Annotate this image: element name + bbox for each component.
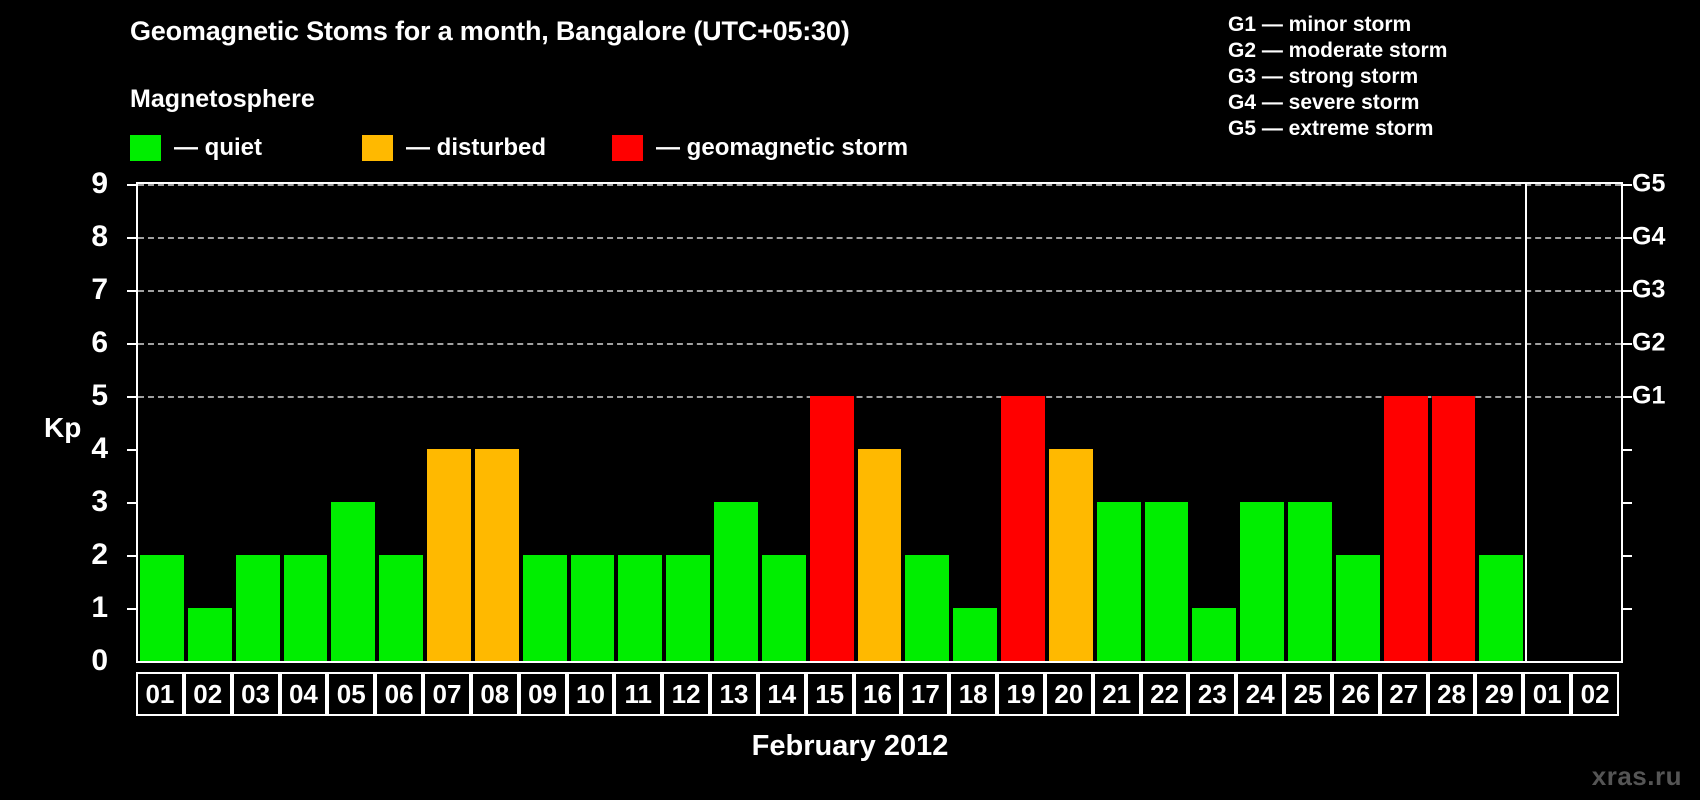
day-label-30[interactable]: 02 bbox=[1571, 672, 1619, 716]
day-label-7[interactable]: 08 bbox=[471, 672, 519, 716]
bar-day-06[interactable] bbox=[379, 555, 423, 661]
bar-day-09[interactable] bbox=[523, 555, 567, 661]
gscale-key-line-g1: G1 — minor storm bbox=[1228, 12, 1447, 38]
bar-day-23[interactable] bbox=[1192, 608, 1236, 661]
watermark: xras.ru bbox=[1592, 761, 1682, 792]
gscale-key-line-g5: G5 — extreme storm bbox=[1228, 116, 1447, 142]
day-label-13[interactable]: 14 bbox=[758, 672, 806, 716]
day-label-15[interactable]: 16 bbox=[854, 672, 902, 716]
bar-day-16[interactable] bbox=[858, 449, 902, 661]
month-divider-line bbox=[1525, 184, 1527, 661]
g-axis-label-g3: G3 bbox=[1632, 276, 1665, 305]
y-tick-label-2: 2 bbox=[91, 538, 108, 572]
bar-day-08[interactable] bbox=[475, 449, 519, 661]
bar-day-01[interactable] bbox=[140, 555, 184, 661]
y-tick-label-0: 0 bbox=[91, 644, 108, 678]
y-tick-8 bbox=[127, 237, 136, 239]
day-label-17[interactable]: 18 bbox=[949, 672, 997, 716]
y-tick-label-9: 9 bbox=[91, 167, 108, 201]
bar-day-29[interactable] bbox=[1479, 555, 1523, 661]
bar-day-03[interactable] bbox=[236, 555, 280, 661]
day-label-5[interactable]: 06 bbox=[375, 672, 423, 716]
bar-day-14[interactable] bbox=[762, 555, 806, 661]
bar-day-25[interactable] bbox=[1288, 502, 1332, 661]
bar-day-12[interactable] bbox=[666, 555, 710, 661]
g-axis-label-g4: G4 bbox=[1632, 223, 1665, 252]
day-label-24[interactable]: 25 bbox=[1284, 672, 1332, 716]
bar-day-26[interactable] bbox=[1336, 555, 1380, 661]
bar-day-15[interactable] bbox=[810, 396, 854, 661]
page-title: Geomagnetic Stoms for a month, Bangalore… bbox=[130, 16, 849, 47]
day-label-25[interactable]: 26 bbox=[1332, 672, 1380, 716]
day-label-3[interactable]: 04 bbox=[280, 672, 328, 716]
day-label-9[interactable]: 10 bbox=[567, 672, 615, 716]
legend-item-disturbed: — disturbed bbox=[362, 134, 546, 162]
bar-day-07[interactable] bbox=[427, 449, 471, 661]
bar-day-24[interactable] bbox=[1240, 502, 1284, 661]
y-tick-9 bbox=[127, 184, 136, 186]
y-tick-label-8: 8 bbox=[91, 220, 108, 254]
day-label-1[interactable]: 02 bbox=[184, 672, 232, 716]
g-axis-label-g5: G5 bbox=[1632, 170, 1665, 199]
day-label-22[interactable]: 23 bbox=[1188, 672, 1236, 716]
y-tick-7 bbox=[127, 290, 136, 292]
g-tick-8 bbox=[1623, 237, 1632, 239]
bar-day-18[interactable] bbox=[953, 608, 997, 661]
y-tick-5 bbox=[127, 396, 136, 398]
day-label-29[interactable]: 01 bbox=[1523, 672, 1571, 716]
g-tick-9 bbox=[1623, 184, 1632, 186]
y-tick-label-4: 4 bbox=[91, 432, 108, 466]
day-label-26[interactable]: 27 bbox=[1380, 672, 1428, 716]
bar-day-19[interactable] bbox=[1001, 396, 1045, 661]
y-tick-4 bbox=[127, 449, 136, 451]
g-tick-3 bbox=[1623, 502, 1632, 504]
bar-day-13[interactable] bbox=[714, 502, 758, 661]
day-label-27[interactable]: 28 bbox=[1428, 672, 1476, 716]
geomagnetic-storm-chart: Geomagnetic Stoms for a month, Bangalore… bbox=[0, 0, 1700, 800]
day-label-19[interactable]: 20 bbox=[1045, 672, 1093, 716]
y-tick-3 bbox=[127, 502, 136, 504]
day-label-21[interactable]: 22 bbox=[1141, 672, 1189, 716]
legend-item-quiet: — quiet bbox=[130, 134, 262, 162]
legend-swatch-storm bbox=[612, 135, 643, 161]
g-tick-5 bbox=[1623, 396, 1632, 398]
day-label-2[interactable]: 03 bbox=[232, 672, 280, 716]
legend-label-quiet: — quiet bbox=[174, 134, 262, 162]
bars bbox=[138, 184, 1621, 661]
x-axis-day-labels: 0102030405060708091011121314151617181920… bbox=[136, 672, 1623, 716]
y-tick-6 bbox=[127, 343, 136, 345]
bar-day-11[interactable] bbox=[618, 555, 662, 661]
legend-label-storm: — geomagnetic storm bbox=[656, 134, 908, 162]
g-tick-2 bbox=[1623, 555, 1632, 557]
g-tick-1 bbox=[1623, 608, 1632, 610]
x-axis-title: February 2012 bbox=[0, 730, 1700, 763]
bar-day-17[interactable] bbox=[905, 555, 949, 661]
bar-day-02[interactable] bbox=[188, 608, 232, 661]
legend-item-storm: — geomagnetic storm bbox=[612, 134, 908, 162]
g-axis-label-g1: G1 bbox=[1632, 382, 1665, 411]
bar-day-27[interactable] bbox=[1384, 396, 1428, 661]
y-tick-label-7: 7 bbox=[91, 273, 108, 307]
magnetosphere-legend: — quiet — disturbed — geomagnetic storm bbox=[130, 134, 908, 162]
bar-day-20[interactable] bbox=[1049, 449, 1093, 661]
gscale-key-line-g4: G4 — severe storm bbox=[1228, 90, 1447, 116]
day-label-18[interactable]: 19 bbox=[997, 672, 1045, 716]
bar-day-05[interactable] bbox=[331, 502, 375, 661]
gscale-key-line-g3: G3 — strong storm bbox=[1228, 64, 1447, 90]
y-tick-label-3: 3 bbox=[91, 485, 108, 519]
y-tick-label-1: 1 bbox=[91, 591, 108, 625]
day-label-6[interactable]: 07 bbox=[423, 672, 471, 716]
bar-day-10[interactable] bbox=[571, 555, 615, 661]
day-label-14[interactable]: 15 bbox=[806, 672, 854, 716]
g-scale-axis: G1G2G3G4G5 bbox=[1632, 182, 1700, 663]
day-label-20[interactable]: 21 bbox=[1093, 672, 1141, 716]
day-label-8[interactable]: 09 bbox=[519, 672, 567, 716]
bar-day-22[interactable] bbox=[1145, 502, 1189, 661]
day-label-4[interactable]: 05 bbox=[327, 672, 375, 716]
day-label-12[interactable]: 13 bbox=[710, 672, 758, 716]
y-axis-title: Kp bbox=[44, 412, 81, 444]
day-label-0[interactable]: 01 bbox=[136, 672, 184, 716]
day-label-16[interactable]: 17 bbox=[901, 672, 949, 716]
gscale-key-line-g2: G2 — moderate storm bbox=[1228, 38, 1447, 64]
bar-day-04[interactable] bbox=[284, 555, 328, 661]
day-label-11[interactable]: 12 bbox=[662, 672, 710, 716]
magnetosphere-heading: Magnetosphere bbox=[130, 85, 315, 114]
legend-swatch-disturbed bbox=[362, 135, 393, 161]
g-tick-6 bbox=[1623, 343, 1632, 345]
bar-day-21[interactable] bbox=[1097, 502, 1141, 661]
g-tick-7 bbox=[1623, 290, 1632, 292]
gscale-key: G1 — minor storm G2 — moderate storm G3 … bbox=[1228, 12, 1447, 142]
y-tick-label-5: 5 bbox=[91, 379, 108, 413]
y-tick-label-6: 6 bbox=[91, 326, 108, 360]
legend-swatch-quiet bbox=[130, 135, 161, 161]
g-tick-4 bbox=[1623, 449, 1632, 451]
bar-day-28[interactable] bbox=[1432, 396, 1476, 661]
y-tick-2 bbox=[127, 555, 136, 557]
plot-area bbox=[136, 182, 1623, 663]
g-axis-label-g2: G2 bbox=[1632, 329, 1665, 358]
plot-inner bbox=[138, 184, 1621, 661]
y-tick-1 bbox=[127, 608, 136, 610]
day-label-28[interactable]: 29 bbox=[1475, 672, 1523, 716]
legend-label-disturbed: — disturbed bbox=[406, 134, 546, 162]
day-label-10[interactable]: 11 bbox=[614, 672, 662, 716]
day-label-23[interactable]: 24 bbox=[1236, 672, 1284, 716]
